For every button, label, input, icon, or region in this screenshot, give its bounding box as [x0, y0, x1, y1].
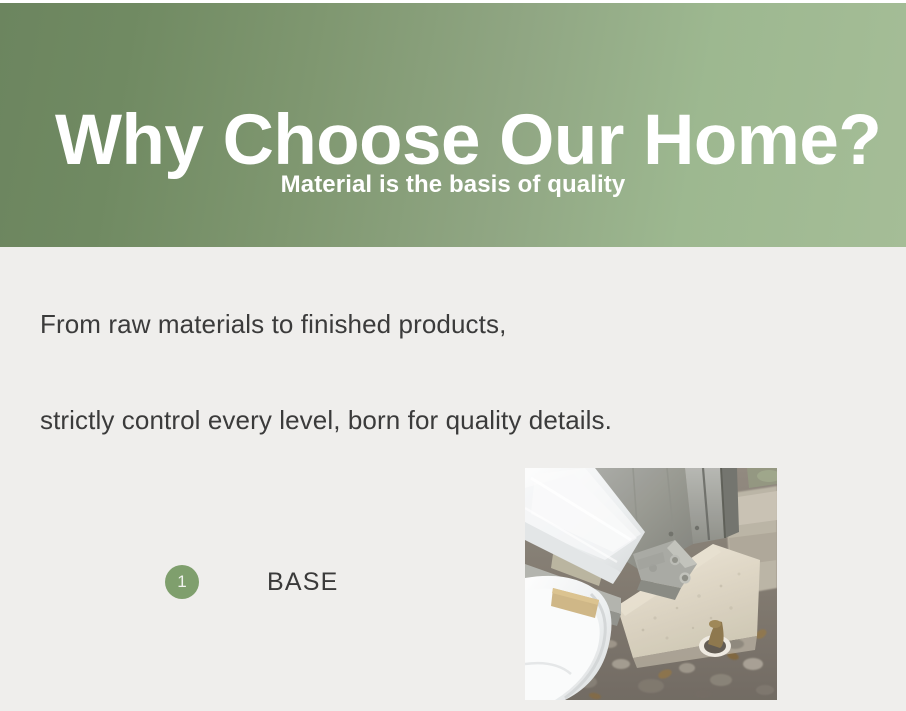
bullet-label: BASE [267, 568, 339, 597]
header-banner: Why Choose Our Home? Material is the bas… [0, 3, 906, 247]
list-item: 1 BASE [165, 565, 339, 599]
bullet-number-badge: 1 [165, 565, 199, 599]
product-photo [525, 468, 777, 700]
page-subtitle: Material is the basis of quality [0, 171, 906, 199]
page-title: Why Choose Our Home? [55, 105, 855, 176]
body-text-line-2: strictly control every level, born for q… [40, 405, 612, 436]
slide-canvas: Why Choose Our Home? Material is the bas… [0, 0, 906, 711]
body-text-line-1: From raw materials to finished products, [40, 309, 506, 340]
header-top-rule [0, 0, 906, 3]
product-photo-image [525, 468, 777, 700]
